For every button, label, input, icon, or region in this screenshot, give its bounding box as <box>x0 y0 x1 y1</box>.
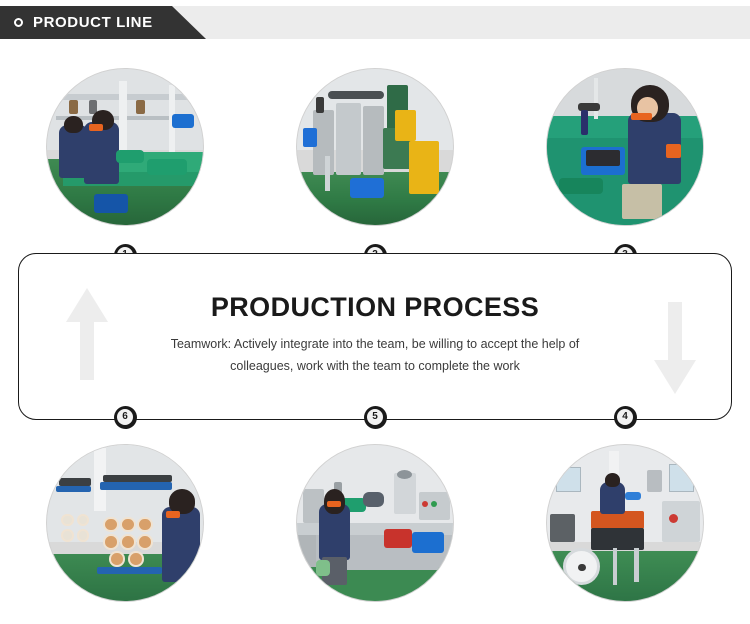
step-badges-bottom: 6 5 4 <box>0 404 750 430</box>
process-title: PRODUCTION PROCESS <box>0 292 750 323</box>
photo-row-bottom <box>0 440 750 606</box>
badge-slot: 5 <box>250 404 500 430</box>
page-title: PRODUCT LINE <box>33 14 153 31</box>
circle-outline-icon <box>14 18 23 27</box>
step-photo-4[interactable] <box>547 445 703 601</box>
product-line-page: PRODUCT LINE <box>0 0 750 624</box>
badge-slot: 6 <box>0 404 250 430</box>
page-header: PRODUCT LINE <box>0 0 750 46</box>
step-badge-6-number: 6 <box>117 409 133 425</box>
process-description: Teamwork: Actively integrate into the te… <box>145 333 605 377</box>
step-photo-1[interactable] <box>47 69 203 225</box>
badge-slot: 4 <box>500 404 750 430</box>
step-photo-3[interactable] <box>547 69 703 225</box>
step-photo-6[interactable] <box>47 445 203 601</box>
header-tab: PRODUCT LINE <box>0 6 206 39</box>
step-photo-2[interactable] <box>297 69 453 225</box>
step-badge-4-number: 4 <box>617 409 633 425</box>
step-badge-5[interactable]: 5 <box>364 406 387 429</box>
step-photo-5[interactable] <box>297 445 453 601</box>
step-badge-5-number: 5 <box>367 409 383 425</box>
step-badge-6[interactable]: 6 <box>114 406 137 429</box>
step-badge-4[interactable]: 4 <box>614 406 637 429</box>
photo-row-top <box>0 64 750 230</box>
